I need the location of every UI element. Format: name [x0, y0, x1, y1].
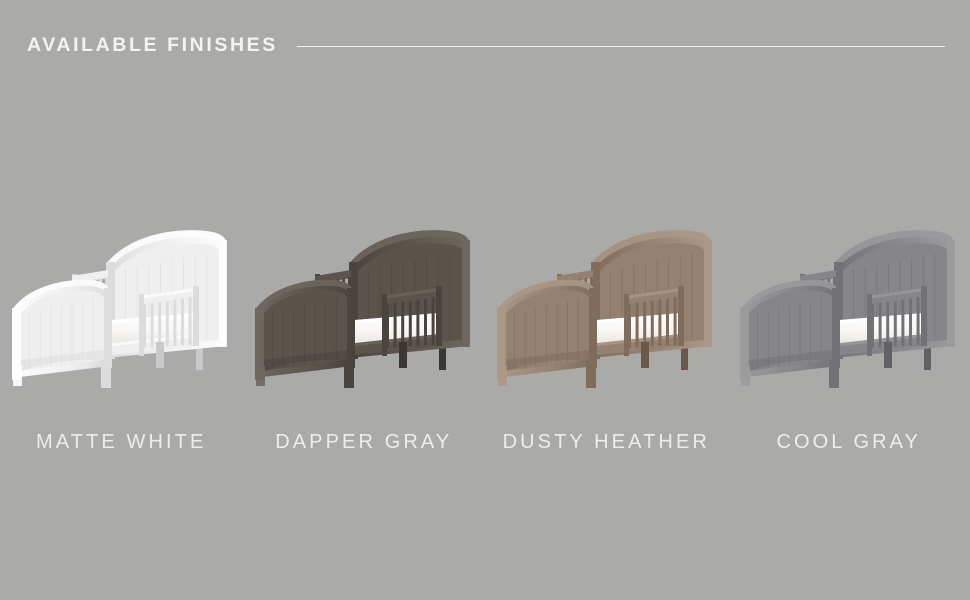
header: AVAILABLE FINISHES: [0, 30, 970, 62]
finish-options-row: MATTE WHITEDAPPER GRAYDUSTY HEATHERCOOL …: [0, 200, 970, 470]
finishes-showcase: AVAILABLE FINISHES MATTE WHITEDAPPER GRA…: [0, 0, 970, 600]
toddler-bed-image[interactable]: [243, 200, 486, 400]
toddler-bed-image[interactable]: [728, 200, 970, 400]
title-divider: [297, 46, 945, 47]
finish-option[interactable]: COOL GRAY: [728, 200, 970, 470]
toddler-bed-image[interactable]: [485, 200, 728, 400]
toddler-bed-image[interactable]: [0, 200, 243, 400]
finish-name-label: DUSTY HEATHER: [485, 432, 728, 452]
finish-option[interactable]: DUSTY HEATHER: [485, 200, 728, 470]
finish-name-label: COOL GRAY: [728, 432, 970, 452]
page-title: AVAILABLE FINISHES: [27, 36, 278, 56]
finish-option[interactable]: MATTE WHITE: [0, 200, 243, 470]
finish-name-label: MATTE WHITE: [0, 432, 243, 452]
finish-name-label: DAPPER GRAY: [243, 432, 486, 452]
finish-option[interactable]: DAPPER GRAY: [243, 200, 486, 470]
